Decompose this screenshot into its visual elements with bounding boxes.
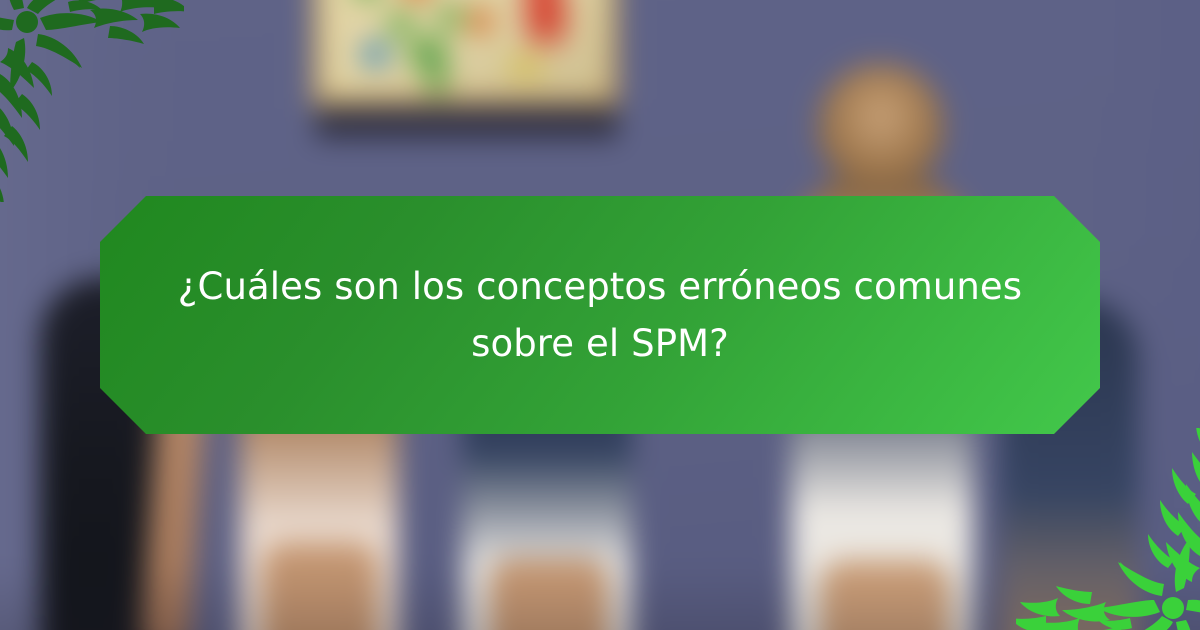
poster-square-yellow (510, 55, 542, 78)
poster-red-scribble-2 (545, 0, 573, 55)
poster-dot-green3 (438, 4, 463, 29)
poster-dot-green2 (387, 11, 415, 39)
poster-board-base (316, 106, 618, 138)
poster-square-green2 (427, 64, 446, 94)
poster-dot-blue (362, 40, 390, 68)
poster-canvas: ¿Cuáles son los conceptos erróneos comun… (0, 0, 1200, 630)
banner-title: ¿Cuáles son los conceptos erróneos comun… (100, 258, 1100, 373)
figure-4-hair (818, 64, 943, 181)
question-banner: ¿Cuáles son los conceptos erróneos comun… (100, 196, 1100, 434)
poster-dot-orange2 (468, 9, 493, 34)
floor-shadow (0, 564, 1200, 630)
